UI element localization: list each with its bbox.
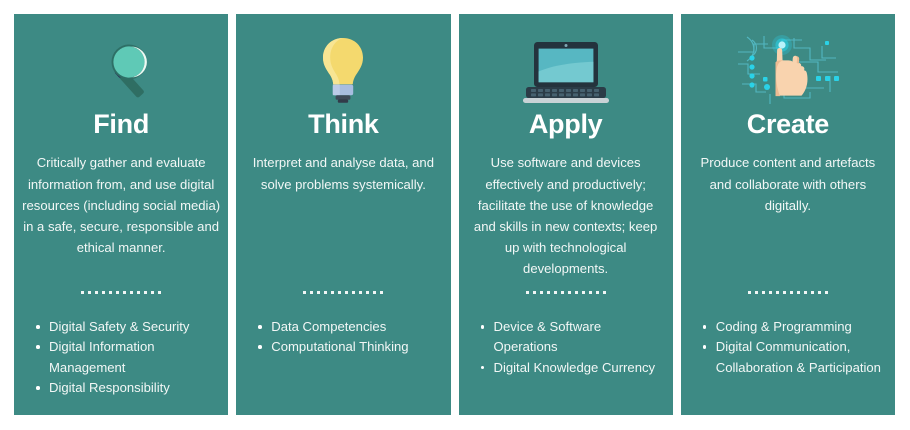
card-title: Think [308,110,379,138]
list-item: Digital Information Management [36,337,218,378]
card-bullet-list: Data Competencies Computational Thinking [236,317,450,358]
card-think[interactable]: Think Interpret and analyse data, and so… [236,14,450,415]
divider-dots [81,291,161,294]
divider-dots [526,291,606,294]
digital-literacy-infographic: Find Critically gather and evaluate info… [0,0,910,430]
dotted-divider [681,291,895,294]
card-bullet-list: Device & Software Operations Digital Kno… [459,317,673,378]
lightbulb-icon [244,30,442,108]
card-find[interactable]: Find Critically gather and evaluate info… [14,14,228,415]
list-item: Digital Knowledge Currency [481,358,663,378]
dotted-divider [14,291,228,294]
touch-circuit-icon [689,30,887,108]
divider-dots [303,291,383,294]
list-item: Digital Responsibility [36,378,218,398]
card-bullet-list: Digital Safety & Security Digital Inform… [14,317,228,399]
card-description: Use software and devices effectively and… [467,152,665,279]
list-item: Data Competencies [258,317,440,337]
magnifying-glass-icon [22,30,220,108]
list-item: Digital Safety & Security [36,317,218,337]
card-description: Produce content and artefacts and collab… [689,152,887,216]
card-description: Interpret and analyse data, and solve pr… [244,152,442,194]
dotted-divider [459,291,673,294]
card-apply[interactable]: Apply Use software and devices effective… [459,14,673,415]
divider-dots [748,291,828,294]
card-title: Find [93,110,149,138]
list-item: Digital Communication, Collaboration & P… [703,337,885,378]
card-bullet-list: Coding & Programming Digital Communicati… [681,317,895,378]
dotted-divider [236,291,450,294]
card-title: Create [747,110,829,138]
card-title: Apply [529,110,603,138]
list-item: Computational Thinking [258,337,440,357]
list-item: Coding & Programming [703,317,885,337]
card-description: Critically gather and evaluate informati… [22,152,220,258]
laptop-icon [467,30,665,108]
card-create[interactable]: Create Produce content and artefacts and… [681,14,895,415]
list-item: Device & Software Operations [481,317,663,358]
